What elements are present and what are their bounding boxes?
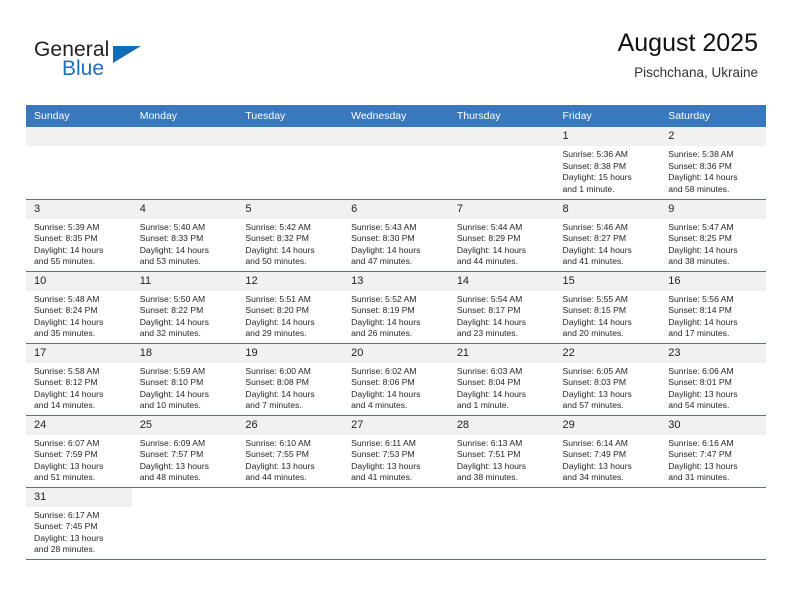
daylight-text-line1: Daylight: 13 hours bbox=[34, 461, 126, 473]
day-number: 1 bbox=[555, 127, 661, 146]
daylight-text-line1: Daylight: 14 hours bbox=[351, 245, 443, 257]
day-number: 11 bbox=[132, 272, 238, 291]
calendar-day-cell[interactable]: 21Sunrise: 6:03 AMSunset: 8:04 PMDayligh… bbox=[449, 343, 555, 415]
sunset-text: Sunset: 8:06 PM bbox=[351, 377, 443, 389]
sunrise-text: Sunrise: 6:05 AM bbox=[563, 366, 655, 378]
daylight-text-line2: and 32 minutes. bbox=[140, 328, 232, 340]
day-details: Sunrise: 6:03 AMSunset: 8:04 PMDaylight:… bbox=[449, 363, 555, 412]
calendar-cell-empty bbox=[132, 127, 238, 199]
sunrise-text: Sunrise: 5:59 AM bbox=[140, 366, 232, 378]
weekday-header-tuesday: Tuesday bbox=[237, 105, 343, 127]
sunset-text: Sunset: 8:27 PM bbox=[563, 233, 655, 245]
daylight-text-line2: and 38 minutes. bbox=[668, 256, 760, 268]
day-number bbox=[449, 127, 555, 146]
daylight-text-line2: and 41 minutes. bbox=[563, 256, 655, 268]
daylight-text-line1: Daylight: 13 hours bbox=[34, 533, 126, 545]
calendar-week-row: 17Sunrise: 5:58 AMSunset: 8:12 PMDayligh… bbox=[26, 343, 766, 415]
sunset-text: Sunset: 8:12 PM bbox=[34, 377, 126, 389]
sunset-text: Sunset: 7:53 PM bbox=[351, 449, 443, 461]
daylight-text-line1: Daylight: 14 hours bbox=[140, 245, 232, 257]
daylight-text-line2: and 50 minutes. bbox=[245, 256, 337, 268]
sunset-text: Sunset: 8:04 PM bbox=[457, 377, 549, 389]
sunset-text: Sunset: 8:10 PM bbox=[140, 377, 232, 389]
sunrise-text: Sunrise: 5:50 AM bbox=[140, 294, 232, 306]
calendar-day-cell[interactable]: 2Sunrise: 5:38 AMSunset: 8:36 PMDaylight… bbox=[660, 127, 766, 199]
sunset-text: Sunset: 7:47 PM bbox=[668, 449, 760, 461]
daylight-text-line2: and 29 minutes. bbox=[245, 328, 337, 340]
sunrise-text: Sunrise: 5:36 AM bbox=[563, 149, 655, 161]
daylight-text-line2: and 28 minutes. bbox=[34, 544, 126, 556]
day-number: 23 bbox=[660, 344, 766, 363]
sunrise-text: Sunrise: 5:47 AM bbox=[668, 222, 760, 234]
day-number: 15 bbox=[555, 272, 661, 291]
daylight-text-line2: and 54 minutes. bbox=[668, 400, 760, 412]
calendar-cell-blank bbox=[449, 487, 555, 559]
sunset-text: Sunset: 8:17 PM bbox=[457, 305, 549, 317]
sunrise-text: Sunrise: 5:48 AM bbox=[34, 294, 126, 306]
daylight-text-line2: and 38 minutes. bbox=[457, 472, 549, 484]
daylight-text-line1: Daylight: 14 hours bbox=[457, 317, 549, 329]
sunset-text: Sunset: 8:32 PM bbox=[245, 233, 337, 245]
daylight-text-line1: Daylight: 13 hours bbox=[668, 461, 760, 473]
calendar-day-cell[interactable]: 4Sunrise: 5:40 AMSunset: 8:33 PMDaylight… bbox=[132, 199, 238, 271]
sunrise-text: Sunrise: 5:42 AM bbox=[245, 222, 337, 234]
day-number: 20 bbox=[343, 344, 449, 363]
daylight-text-line2: and 14 minutes. bbox=[34, 400, 126, 412]
day-number: 13 bbox=[343, 272, 449, 291]
daylight-text-line1: Daylight: 14 hours bbox=[34, 317, 126, 329]
day-number: 6 bbox=[343, 200, 449, 219]
sunset-text: Sunset: 8:33 PM bbox=[140, 233, 232, 245]
daylight-text-line2: and 1 minute. bbox=[457, 400, 549, 412]
sunrise-text: Sunrise: 5:52 AM bbox=[351, 294, 443, 306]
sunrise-text: Sunrise: 6:11 AM bbox=[351, 438, 443, 450]
day-number: 25 bbox=[132, 416, 238, 435]
sunset-text: Sunset: 8:08 PM bbox=[245, 377, 337, 389]
calendar-day-cell[interactable]: 16Sunrise: 5:56 AMSunset: 8:14 PMDayligh… bbox=[660, 271, 766, 343]
sunset-text: Sunset: 8:35 PM bbox=[34, 233, 126, 245]
calendar-day-cell[interactable]: 5Sunrise: 5:42 AMSunset: 8:32 PMDaylight… bbox=[237, 199, 343, 271]
daylight-text-line1: Daylight: 13 hours bbox=[245, 461, 337, 473]
daylight-text-line1: Daylight: 14 hours bbox=[245, 317, 337, 329]
calendar-day-cell[interactable]: 23Sunrise: 6:06 AMSunset: 8:01 PMDayligh… bbox=[660, 343, 766, 415]
daylight-text-line1: Daylight: 13 hours bbox=[668, 389, 760, 401]
sunrise-text: Sunrise: 6:13 AM bbox=[457, 438, 549, 450]
day-details: Sunrise: 6:14 AMSunset: 7:49 PMDaylight:… bbox=[555, 435, 661, 484]
calendar-cell-blank bbox=[132, 487, 238, 559]
calendar-day-cell[interactable]: 9Sunrise: 5:47 AMSunset: 8:25 PMDaylight… bbox=[660, 199, 766, 271]
day-details: Sunrise: 6:07 AMSunset: 7:59 PMDaylight:… bbox=[26, 435, 132, 484]
day-details: Sunrise: 5:40 AMSunset: 8:33 PMDaylight:… bbox=[132, 219, 238, 268]
daylight-text-line1: Daylight: 14 hours bbox=[245, 245, 337, 257]
calendar-day-cell[interactable]: 11Sunrise: 5:50 AMSunset: 8:22 PMDayligh… bbox=[132, 271, 238, 343]
daylight-text-line1: Daylight: 13 hours bbox=[563, 389, 655, 401]
sunset-text: Sunset: 8:36 PM bbox=[668, 161, 760, 173]
day-details: Sunrise: 5:44 AMSunset: 8:29 PMDaylight:… bbox=[449, 219, 555, 268]
day-number: 29 bbox=[555, 416, 661, 435]
day-number: 28 bbox=[449, 416, 555, 435]
daylight-text-line2: and 47 minutes. bbox=[351, 256, 443, 268]
calendar-day-cell[interactable]: 17Sunrise: 5:58 AMSunset: 8:12 PMDayligh… bbox=[26, 343, 132, 415]
daylight-text-line1: Daylight: 14 hours bbox=[351, 317, 443, 329]
day-details: Sunrise: 6:13 AMSunset: 7:51 PMDaylight:… bbox=[449, 435, 555, 484]
daylight-text-line2: and 4 minutes. bbox=[351, 400, 443, 412]
calendar-day-cell[interactable]: 30Sunrise: 6:16 AMSunset: 7:47 PMDayligh… bbox=[660, 415, 766, 487]
daylight-text-line2: and 57 minutes. bbox=[563, 400, 655, 412]
calendar-day-cell[interactable]: 12Sunrise: 5:51 AMSunset: 8:20 PMDayligh… bbox=[237, 271, 343, 343]
daylight-text-line2: and 17 minutes. bbox=[668, 328, 760, 340]
calendar-cell-blank bbox=[237, 487, 343, 559]
calendar-day-cell[interactable]: 14Sunrise: 5:54 AMSunset: 8:17 PMDayligh… bbox=[449, 271, 555, 343]
sunset-text: Sunset: 8:30 PM bbox=[351, 233, 443, 245]
sunrise-text: Sunrise: 5:39 AM bbox=[34, 222, 126, 234]
calendar-day-cell[interactable]: 29Sunrise: 6:14 AMSunset: 7:49 PMDayligh… bbox=[555, 415, 661, 487]
general-blue-logo[interactable]: General Blue bbox=[34, 38, 204, 90]
day-number: 4 bbox=[132, 200, 238, 219]
daylight-text-line1: Daylight: 15 hours bbox=[563, 172, 655, 184]
day-details: Sunrise: 5:59 AMSunset: 8:10 PMDaylight:… bbox=[132, 363, 238, 412]
daylight-text-line1: Daylight: 14 hours bbox=[668, 317, 760, 329]
daylight-text-line2: and 26 minutes. bbox=[351, 328, 443, 340]
sunrise-text: Sunrise: 5:56 AM bbox=[668, 294, 760, 306]
day-number: 18 bbox=[132, 344, 238, 363]
calendar-day-cell[interactable]: 25Sunrise: 6:09 AMSunset: 7:57 PMDayligh… bbox=[132, 415, 238, 487]
day-details: Sunrise: 5:51 AMSunset: 8:20 PMDaylight:… bbox=[237, 291, 343, 340]
calendar-cell-empty bbox=[449, 127, 555, 199]
daylight-text-line2: and 20 minutes. bbox=[563, 328, 655, 340]
daylight-text-line2: and 44 minutes. bbox=[457, 256, 549, 268]
calendar-day-cell[interactable]: 20Sunrise: 6:02 AMSunset: 8:06 PMDayligh… bbox=[343, 343, 449, 415]
calendar-table-wrapper: Sunday Monday Tuesday Wednesday Thursday… bbox=[26, 105, 766, 560]
calendar-page: General Blue August 2025 Pischchana, Ukr… bbox=[0, 0, 792, 612]
sunset-text: Sunset: 7:45 PM bbox=[34, 521, 126, 533]
calendar-day-cell[interactable]: 7Sunrise: 5:44 AMSunset: 8:29 PMDaylight… bbox=[449, 199, 555, 271]
calendar-cell-empty bbox=[237, 127, 343, 199]
sunset-text: Sunset: 8:19 PM bbox=[351, 305, 443, 317]
calendar-cell-blank bbox=[660, 487, 766, 559]
day-number: 8 bbox=[555, 200, 661, 219]
day-details: Sunrise: 6:16 AMSunset: 7:47 PMDaylight:… bbox=[660, 435, 766, 484]
sunrise-text: Sunrise: 6:00 AM bbox=[245, 366, 337, 378]
calendar-day-cell[interactable]: 3Sunrise: 5:39 AMSunset: 8:35 PMDaylight… bbox=[26, 199, 132, 271]
weekday-header-row: Sunday Monday Tuesday Wednesday Thursday… bbox=[26, 105, 766, 127]
day-details: Sunrise: 5:54 AMSunset: 8:17 PMDaylight:… bbox=[449, 291, 555, 340]
daylight-text-line2: and 34 minutes. bbox=[563, 472, 655, 484]
sunrise-text: Sunrise: 6:07 AM bbox=[34, 438, 126, 450]
day-number: 17 bbox=[26, 344, 132, 363]
sunrise-text: Sunrise: 5:40 AM bbox=[140, 222, 232, 234]
calendar-day-cell[interactable]: 8Sunrise: 5:46 AMSunset: 8:27 PMDaylight… bbox=[555, 199, 661, 271]
day-number: 30 bbox=[660, 416, 766, 435]
weekday-header-saturday: Saturday bbox=[660, 105, 766, 127]
day-details: Sunrise: 5:46 AMSunset: 8:27 PMDaylight:… bbox=[555, 219, 661, 268]
calendar-day-cell[interactable]: 31Sunrise: 6:17 AMSunset: 7:45 PMDayligh… bbox=[26, 487, 132, 559]
sunrise-text: Sunrise: 6:16 AM bbox=[668, 438, 760, 450]
day-details: Sunrise: 5:58 AMSunset: 8:12 PMDaylight:… bbox=[26, 363, 132, 412]
daylight-text-line1: Daylight: 13 hours bbox=[351, 461, 443, 473]
calendar-day-cell[interactable]: 13Sunrise: 5:52 AMSunset: 8:19 PMDayligh… bbox=[343, 271, 449, 343]
day-details: Sunrise: 5:47 AMSunset: 8:25 PMDaylight:… bbox=[660, 219, 766, 268]
day-number: 12 bbox=[237, 272, 343, 291]
calendar-cell-empty bbox=[343, 127, 449, 199]
day-details: Sunrise: 6:09 AMSunset: 7:57 PMDaylight:… bbox=[132, 435, 238, 484]
daylight-text-line2: and 1 minute. bbox=[563, 184, 655, 196]
sunset-text: Sunset: 7:49 PM bbox=[563, 449, 655, 461]
calendar-day-cell[interactable]: 22Sunrise: 6:05 AMSunset: 8:03 PMDayligh… bbox=[555, 343, 661, 415]
day-number: 7 bbox=[449, 200, 555, 219]
daylight-text-line1: Daylight: 13 hours bbox=[563, 461, 655, 473]
sunset-text: Sunset: 7:55 PM bbox=[245, 449, 337, 461]
daylight-text-line1: Daylight: 14 hours bbox=[457, 245, 549, 257]
day-number: 22 bbox=[555, 344, 661, 363]
sunset-text: Sunset: 8:01 PM bbox=[668, 377, 760, 389]
calendar-day-cell[interactable]: 18Sunrise: 5:59 AMSunset: 8:10 PMDayligh… bbox=[132, 343, 238, 415]
sunrise-text: Sunrise: 5:55 AM bbox=[563, 294, 655, 306]
day-details: Sunrise: 6:02 AMSunset: 8:06 PMDaylight:… bbox=[343, 363, 449, 412]
calendar-day-cell[interactable]: 19Sunrise: 6:00 AMSunset: 8:08 PMDayligh… bbox=[237, 343, 343, 415]
sunset-text: Sunset: 8:22 PM bbox=[140, 305, 232, 317]
day-number: 31 bbox=[26, 488, 132, 507]
day-details: Sunrise: 6:11 AMSunset: 7:53 PMDaylight:… bbox=[343, 435, 449, 484]
sunset-text: Sunset: 8:38 PM bbox=[563, 161, 655, 173]
sunrise-text: Sunrise: 6:03 AM bbox=[457, 366, 549, 378]
logo-text-blue: Blue bbox=[62, 57, 104, 81]
sunset-text: Sunset: 8:24 PM bbox=[34, 305, 126, 317]
calendar-cell-blank bbox=[555, 487, 661, 559]
day-details: Sunrise: 6:17 AMSunset: 7:45 PMDaylight:… bbox=[26, 507, 132, 556]
day-number bbox=[237, 127, 343, 146]
daylight-text-line1: Daylight: 14 hours bbox=[668, 245, 760, 257]
sunrise-text: Sunrise: 6:09 AM bbox=[140, 438, 232, 450]
daylight-text-line2: and 44 minutes. bbox=[245, 472, 337, 484]
daylight-text-line2: and 48 minutes. bbox=[140, 472, 232, 484]
calendar-week-row: 24Sunrise: 6:07 AMSunset: 7:59 PMDayligh… bbox=[26, 415, 766, 487]
daylight-text-line1: Daylight: 14 hours bbox=[668, 172, 760, 184]
daylight-text-line2: and 31 minutes. bbox=[668, 472, 760, 484]
day-number: 9 bbox=[660, 200, 766, 219]
calendar-day-cell[interactable]: 1Sunrise: 5:36 AMSunset: 8:38 PMDaylight… bbox=[555, 127, 661, 199]
weekday-header-friday: Friday bbox=[555, 105, 661, 127]
day-number: 5 bbox=[237, 200, 343, 219]
sunrise-text: Sunrise: 5:51 AM bbox=[245, 294, 337, 306]
daylight-text-line2: and 55 minutes. bbox=[34, 256, 126, 268]
daylight-text-line2: and 58 minutes. bbox=[668, 184, 760, 196]
daylight-text-line1: Daylight: 13 hours bbox=[457, 461, 549, 473]
calendar-day-cell[interactable]: 10Sunrise: 5:48 AMSunset: 8:24 PMDayligh… bbox=[26, 271, 132, 343]
daylight-text-line2: and 10 minutes. bbox=[140, 400, 232, 412]
sunrise-text: Sunrise: 5:58 AM bbox=[34, 366, 126, 378]
day-details: Sunrise: 5:52 AMSunset: 8:19 PMDaylight:… bbox=[343, 291, 449, 340]
calendar-table: Sunday Monday Tuesday Wednesday Thursday… bbox=[26, 105, 766, 560]
sunrise-text: Sunrise: 5:38 AM bbox=[668, 149, 760, 161]
daylight-text-line2: and 7 minutes. bbox=[245, 400, 337, 412]
sunrise-text: Sunrise: 5:44 AM bbox=[457, 222, 549, 234]
weekday-header-sunday: Sunday bbox=[26, 105, 132, 127]
daylight-text-line1: Daylight: 14 hours bbox=[563, 245, 655, 257]
weekday-header-wednesday: Wednesday bbox=[343, 105, 449, 127]
calendar-day-cell[interactable]: 27Sunrise: 6:11 AMSunset: 7:53 PMDayligh… bbox=[343, 415, 449, 487]
daylight-text-line2: and 23 minutes. bbox=[457, 328, 549, 340]
calendar-cell-empty bbox=[26, 127, 132, 199]
calendar-day-cell[interactable]: 26Sunrise: 6:10 AMSunset: 7:55 PMDayligh… bbox=[237, 415, 343, 487]
daylight-text-line2: and 53 minutes. bbox=[140, 256, 232, 268]
day-number bbox=[132, 127, 238, 146]
sunset-text: Sunset: 8:03 PM bbox=[563, 377, 655, 389]
day-number: 3 bbox=[26, 200, 132, 219]
day-number: 14 bbox=[449, 272, 555, 291]
calendar-day-cell[interactable]: 15Sunrise: 5:55 AMSunset: 8:15 PMDayligh… bbox=[555, 271, 661, 343]
day-details: Sunrise: 6:05 AMSunset: 8:03 PMDaylight:… bbox=[555, 363, 661, 412]
daylight-text-line1: Daylight: 13 hours bbox=[140, 461, 232, 473]
sunset-text: Sunset: 8:15 PM bbox=[563, 305, 655, 317]
calendar-body: 1Sunrise: 5:36 AMSunset: 8:38 PMDaylight… bbox=[26, 127, 766, 559]
sunrise-text: Sunrise: 6:06 AM bbox=[668, 366, 760, 378]
page-header: General Blue August 2025 Pischchana, Ukr… bbox=[0, 0, 792, 100]
day-number bbox=[26, 127, 132, 146]
day-number: 24 bbox=[26, 416, 132, 435]
daylight-text-line1: Daylight: 14 hours bbox=[245, 389, 337, 401]
day-details: Sunrise: 5:38 AMSunset: 8:36 PMDaylight:… bbox=[660, 146, 766, 195]
calendar-week-row: 31Sunrise: 6:17 AMSunset: 7:45 PMDayligh… bbox=[26, 487, 766, 559]
sunrise-text: Sunrise: 6:17 AM bbox=[34, 510, 126, 522]
day-details: Sunrise: 5:39 AMSunset: 8:35 PMDaylight:… bbox=[26, 219, 132, 268]
day-details: Sunrise: 5:50 AMSunset: 8:22 PMDaylight:… bbox=[132, 291, 238, 340]
sunset-text: Sunset: 8:20 PM bbox=[245, 305, 337, 317]
day-details: Sunrise: 5:55 AMSunset: 8:15 PMDaylight:… bbox=[555, 291, 661, 340]
calendar-week-row: 3Sunrise: 5:39 AMSunset: 8:35 PMDaylight… bbox=[26, 199, 766, 271]
calendar-day-cell[interactable]: 28Sunrise: 6:13 AMSunset: 7:51 PMDayligh… bbox=[449, 415, 555, 487]
day-number: 10 bbox=[26, 272, 132, 291]
sunrise-text: Sunrise: 6:14 AM bbox=[563, 438, 655, 450]
calendar-cell-blank bbox=[343, 487, 449, 559]
daylight-text-line1: Daylight: 14 hours bbox=[351, 389, 443, 401]
daylight-text-line2: and 51 minutes. bbox=[34, 472, 126, 484]
day-details: Sunrise: 5:48 AMSunset: 8:24 PMDaylight:… bbox=[26, 291, 132, 340]
page-title: August 2025 bbox=[618, 28, 758, 58]
sunrise-text: Sunrise: 6:02 AM bbox=[351, 366, 443, 378]
daylight-text-line2: and 35 minutes. bbox=[34, 328, 126, 340]
daylight-text-line2: and 41 minutes. bbox=[351, 472, 443, 484]
day-number: 21 bbox=[449, 344, 555, 363]
page-subtitle: Pischchana, Ukraine bbox=[618, 64, 758, 81]
day-details: Sunrise: 6:00 AMSunset: 8:08 PMDaylight:… bbox=[237, 363, 343, 412]
day-details: Sunrise: 5:36 AMSunset: 8:38 PMDaylight:… bbox=[555, 146, 661, 195]
sunset-text: Sunset: 7:57 PM bbox=[140, 449, 232, 461]
day-number: 16 bbox=[660, 272, 766, 291]
day-number: 26 bbox=[237, 416, 343, 435]
sunrise-text: Sunrise: 6:10 AM bbox=[245, 438, 337, 450]
sunset-text: Sunset: 8:29 PM bbox=[457, 233, 549, 245]
daylight-text-line1: Daylight: 14 hours bbox=[34, 245, 126, 257]
weekday-header-monday: Monday bbox=[132, 105, 238, 127]
day-details: Sunrise: 5:43 AMSunset: 8:30 PMDaylight:… bbox=[343, 219, 449, 268]
calendar-day-cell[interactable]: 6Sunrise: 5:43 AMSunset: 8:30 PMDaylight… bbox=[343, 199, 449, 271]
day-number: 2 bbox=[660, 127, 766, 146]
sunset-text: Sunset: 8:25 PM bbox=[668, 233, 760, 245]
calendar-day-cell[interactable]: 24Sunrise: 6:07 AMSunset: 7:59 PMDayligh… bbox=[26, 415, 132, 487]
title-block: August 2025 Pischchana, Ukraine bbox=[618, 28, 758, 81]
day-number: 27 bbox=[343, 416, 449, 435]
daylight-text-line1: Daylight: 14 hours bbox=[563, 317, 655, 329]
sunrise-text: Sunrise: 5:43 AM bbox=[351, 222, 443, 234]
daylight-text-line1: Daylight: 14 hours bbox=[457, 389, 549, 401]
sunrise-text: Sunrise: 5:46 AM bbox=[563, 222, 655, 234]
day-number: 19 bbox=[237, 344, 343, 363]
weekday-header-thursday: Thursday bbox=[449, 105, 555, 127]
calendar-week-row: 10Sunrise: 5:48 AMSunset: 8:24 PMDayligh… bbox=[26, 271, 766, 343]
day-details: Sunrise: 5:42 AMSunset: 8:32 PMDaylight:… bbox=[237, 219, 343, 268]
day-details: Sunrise: 5:56 AMSunset: 8:14 PMDaylight:… bbox=[660, 291, 766, 340]
day-number bbox=[343, 127, 449, 146]
sunrise-text: Sunrise: 5:54 AM bbox=[457, 294, 549, 306]
logo-triangle-icon bbox=[113, 46, 141, 63]
day-details: Sunrise: 6:10 AMSunset: 7:55 PMDaylight:… bbox=[237, 435, 343, 484]
sunset-text: Sunset: 7:59 PM bbox=[34, 449, 126, 461]
calendar-head: Sunday Monday Tuesday Wednesday Thursday… bbox=[26, 105, 766, 127]
daylight-text-line1: Daylight: 14 hours bbox=[34, 389, 126, 401]
sunset-text: Sunset: 8:14 PM bbox=[668, 305, 760, 317]
daylight-text-line1: Daylight: 14 hours bbox=[140, 389, 232, 401]
sunset-text: Sunset: 7:51 PM bbox=[457, 449, 549, 461]
day-details: Sunrise: 6:06 AMSunset: 8:01 PMDaylight:… bbox=[660, 363, 766, 412]
calendar-week-row: 1Sunrise: 5:36 AMSunset: 8:38 PMDaylight… bbox=[26, 127, 766, 199]
daylight-text-line1: Daylight: 14 hours bbox=[140, 317, 232, 329]
